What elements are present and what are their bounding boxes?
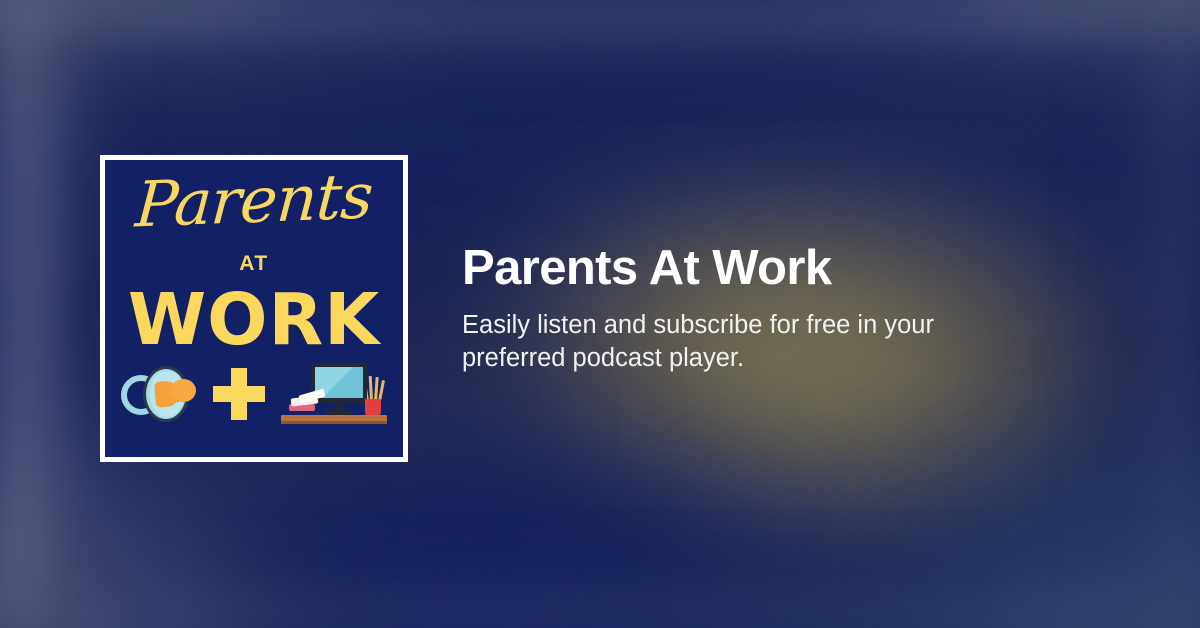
podcast-artwork: Parents AT WORK xyxy=(100,155,408,462)
page-title: Parents At Work xyxy=(462,242,1062,295)
desk-computer-icon xyxy=(281,361,387,427)
podcast-artwork-canvas: Parents AT WORK xyxy=(105,160,403,457)
pacifier-nipple-tip-part xyxy=(171,379,196,402)
artwork-icon-row xyxy=(105,357,403,431)
plus-icon-vertical-bar xyxy=(231,368,247,420)
artwork-middle-word: AT xyxy=(105,252,403,276)
card-content: Parents AT WORK xyxy=(0,0,1200,628)
pacifier-icon xyxy=(121,364,197,424)
pencil-cup-part xyxy=(365,399,381,416)
podcast-share-card: Parents AT WORK xyxy=(0,0,1200,628)
pencil-part xyxy=(369,376,373,401)
pencils-part xyxy=(364,377,384,401)
show-info: Parents At Work Easily listen and subscr… xyxy=(462,242,1062,375)
page-subtitle: Easily listen and subscribe for free in … xyxy=(462,309,1022,375)
artwork-script-word: Parents xyxy=(105,163,403,237)
plus-icon xyxy=(213,368,265,420)
artwork-big-word: WORK xyxy=(105,278,403,361)
desk-surface-shadow-part xyxy=(281,421,387,424)
